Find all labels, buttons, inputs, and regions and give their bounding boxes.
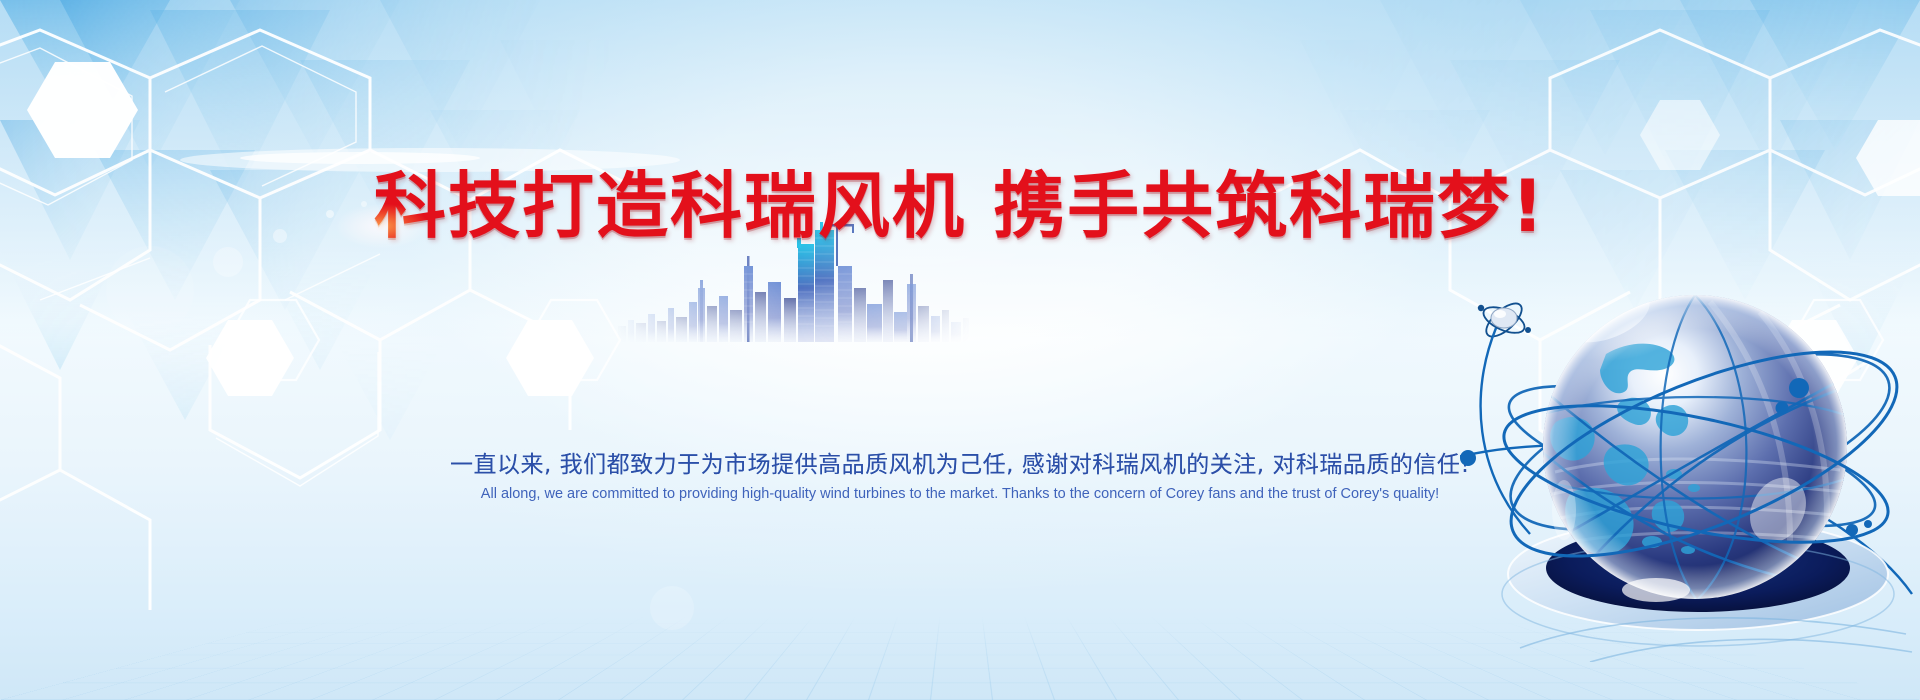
globe-svg: [1460, 242, 1920, 662]
hexagon-network: [0, 30, 660, 610]
promo-banner: 科技打造科瑞风机 携手共筑科瑞梦! 一直以来, 我们都致力于为市场提供高品质风机…: [0, 0, 1920, 700]
headline-text: 科技打造科瑞风机 携手共筑科瑞梦!: [374, 164, 1546, 248]
page-title: 科技打造科瑞风机 携手共筑科瑞梦!: [0, 170, 1920, 242]
hexagon-network-thin: [0, 46, 380, 486]
bokeh-lights: [106, 201, 694, 630]
globe-graphic: [1460, 242, 1920, 662]
orbit-node: [1460, 450, 1476, 466]
atom-satellite-icon: [1478, 298, 1531, 342]
